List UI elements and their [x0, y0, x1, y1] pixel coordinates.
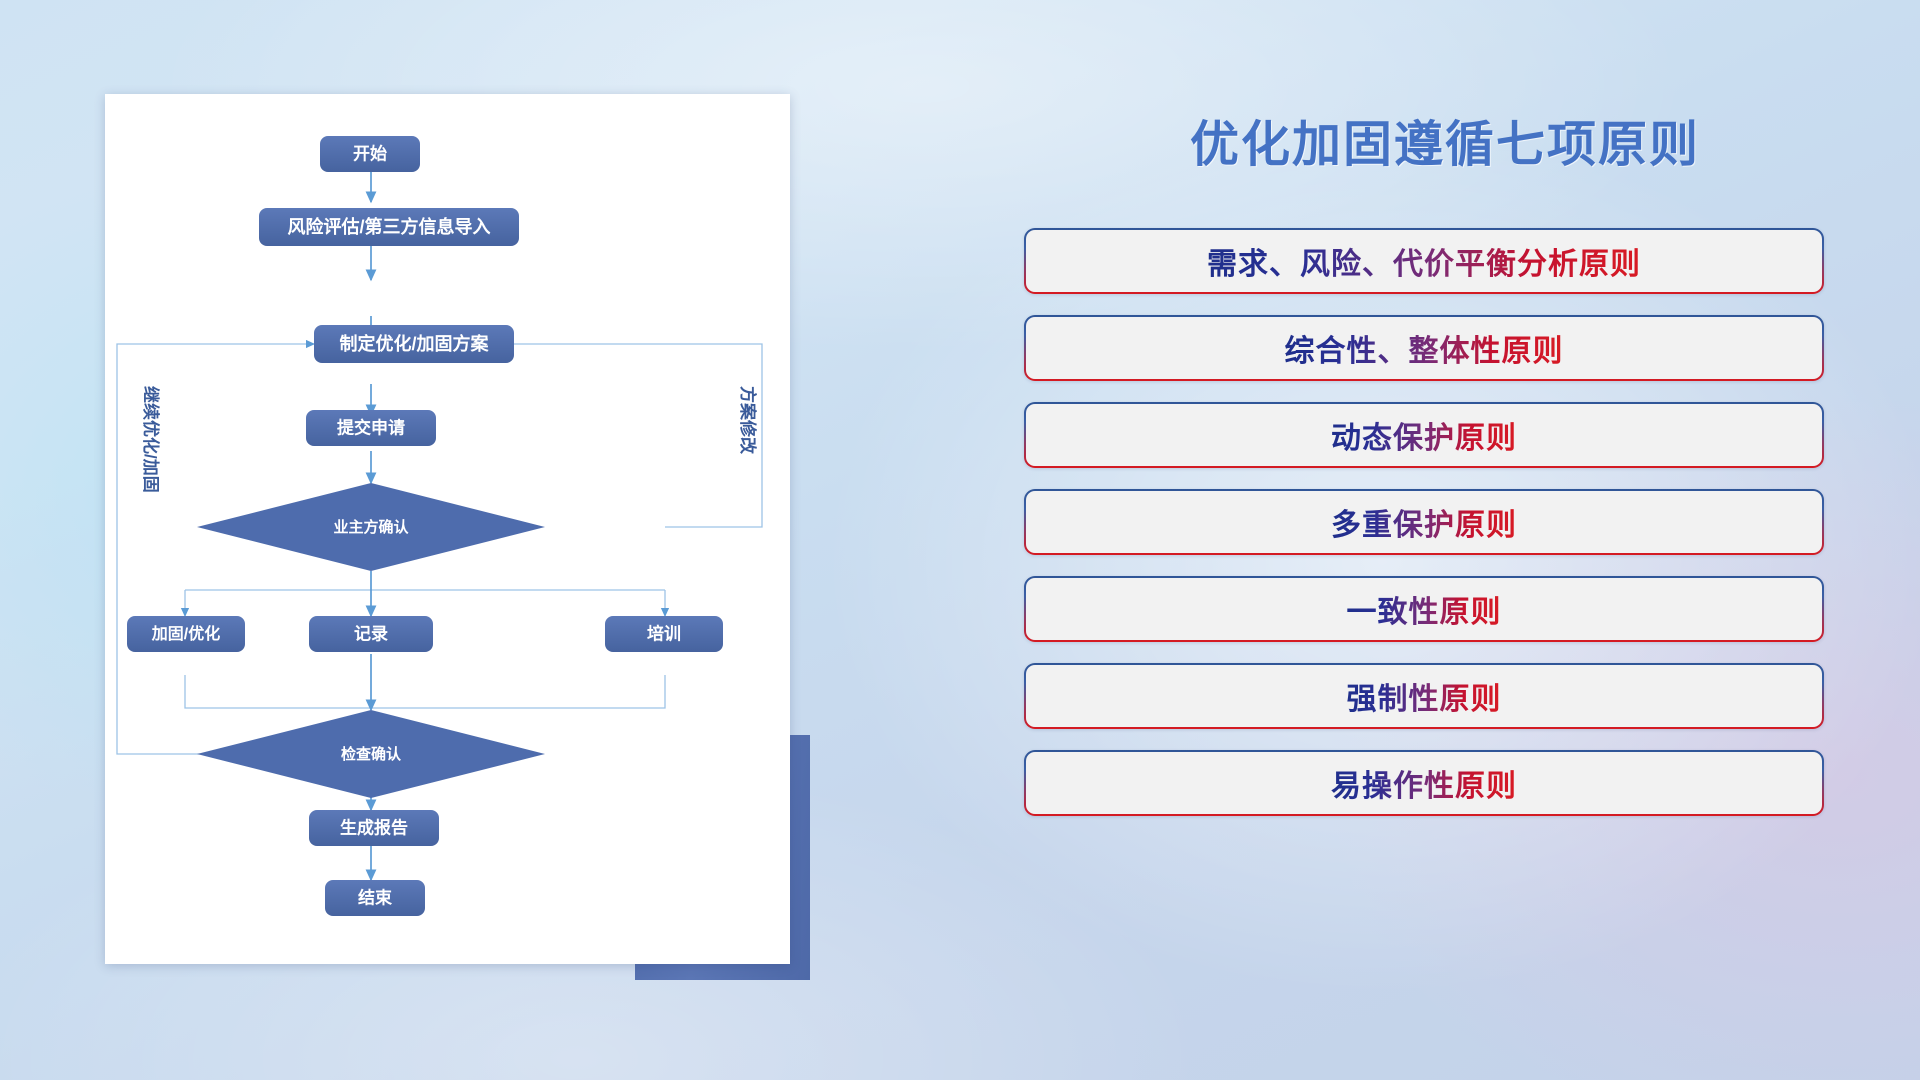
principle-card[interactable]: 动态保护原则 [1024, 402, 1824, 468]
flowchart-diagram: 开始 风险评估/第三方信息导入 制定优化/加固方案 提交申请 业主方确认 加固/… [105, 94, 790, 964]
principle-card-label: 动态保护原则 [1331, 413, 1517, 457]
flow-node-end[interactable]: 结束 [325, 880, 425, 916]
flow-node-training-label: 培训 [647, 623, 681, 643]
flow-node-owner-confirm-label: 业主方确认 [333, 518, 409, 536]
flow-node-record-label: 记录 [354, 624, 388, 643]
flow-node-generate-report-label: 生成报告 [340, 817, 408, 837]
principle-card-list: 需求、风险、代价平衡分析原则 综合性、整体性原则 动态保护原则 多重保护原则 一… [1024, 228, 1824, 816]
flow-node-submit-application[interactable]: 提交申请 [306, 410, 436, 446]
flow-node-training[interactable]: 培训 [605, 616, 723, 652]
principle-card-label: 需求、风险、代价平衡分析原则 [1207, 239, 1641, 283]
flow-node-check-confirm[interactable]: 检查确认 [197, 710, 545, 798]
flow-edge-label-left-loop: 继续优化/加固 [141, 386, 161, 493]
flow-node-start-label: 开始 [353, 143, 387, 163]
flow-node-risk-assessment[interactable]: 风险评估/第三方信息导入 [259, 208, 519, 246]
flow-node-record[interactable]: 记录 [309, 616, 433, 652]
principle-card-label: 多重保护原则 [1331, 500, 1517, 544]
principle-card[interactable]: 一致性原则 [1024, 576, 1824, 642]
flow-node-start[interactable]: 开始 [320, 136, 420, 172]
principle-card-label: 一致性原则 [1347, 587, 1502, 631]
flow-node-make-plan-label: 制定优化/加固方案 [339, 333, 489, 354]
principle-card[interactable]: 多重保护原则 [1024, 489, 1824, 555]
principle-card[interactable]: 强制性原则 [1024, 663, 1824, 729]
flow-node-generate-report[interactable]: 生成报告 [309, 810, 439, 846]
flow-node-owner-confirm[interactable]: 业主方确认 [197, 483, 545, 571]
principles-panel: 优化加固遵循七项原则 需求、风险、代价平衡分析原则 综合性、整体性原则 动态保护… [1000, 0, 1890, 1080]
panel-title: 优化加固遵循七项原则 [1000, 105, 1890, 176]
flow-node-reinforce-optimize-label: 加固/优化 [151, 624, 220, 643]
flow-node-end-label: 结束 [358, 887, 392, 907]
flow-node-check-confirm-label: 检查确认 [341, 745, 402, 763]
flow-node-risk-assessment-label: 风险评估/第三方信息导入 [288, 216, 491, 237]
flow-edge-label-right-loop: 方案修改 [738, 386, 758, 455]
flow-node-submit-application-label: 提交申请 [337, 417, 405, 437]
principle-card[interactable]: 易操作性原则 [1024, 750, 1824, 816]
principle-card-label: 综合性、整体性原则 [1285, 326, 1564, 370]
principle-card-label: 易操作性原则 [1331, 761, 1517, 805]
flow-node-reinforce-optimize[interactable]: 加固/优化 [127, 616, 245, 652]
slide-root: 开始 风险评估/第三方信息导入 制定优化/加固方案 提交申请 业主方确认 加固/… [0, 0, 1920, 1080]
principle-card-label: 强制性原则 [1347, 674, 1502, 718]
flow-node-make-plan[interactable]: 制定优化/加固方案 [314, 325, 514, 363]
principle-card[interactable]: 需求、风险、代价平衡分析原则 [1024, 228, 1824, 294]
principle-card[interactable]: 综合性、整体性原则 [1024, 315, 1824, 381]
